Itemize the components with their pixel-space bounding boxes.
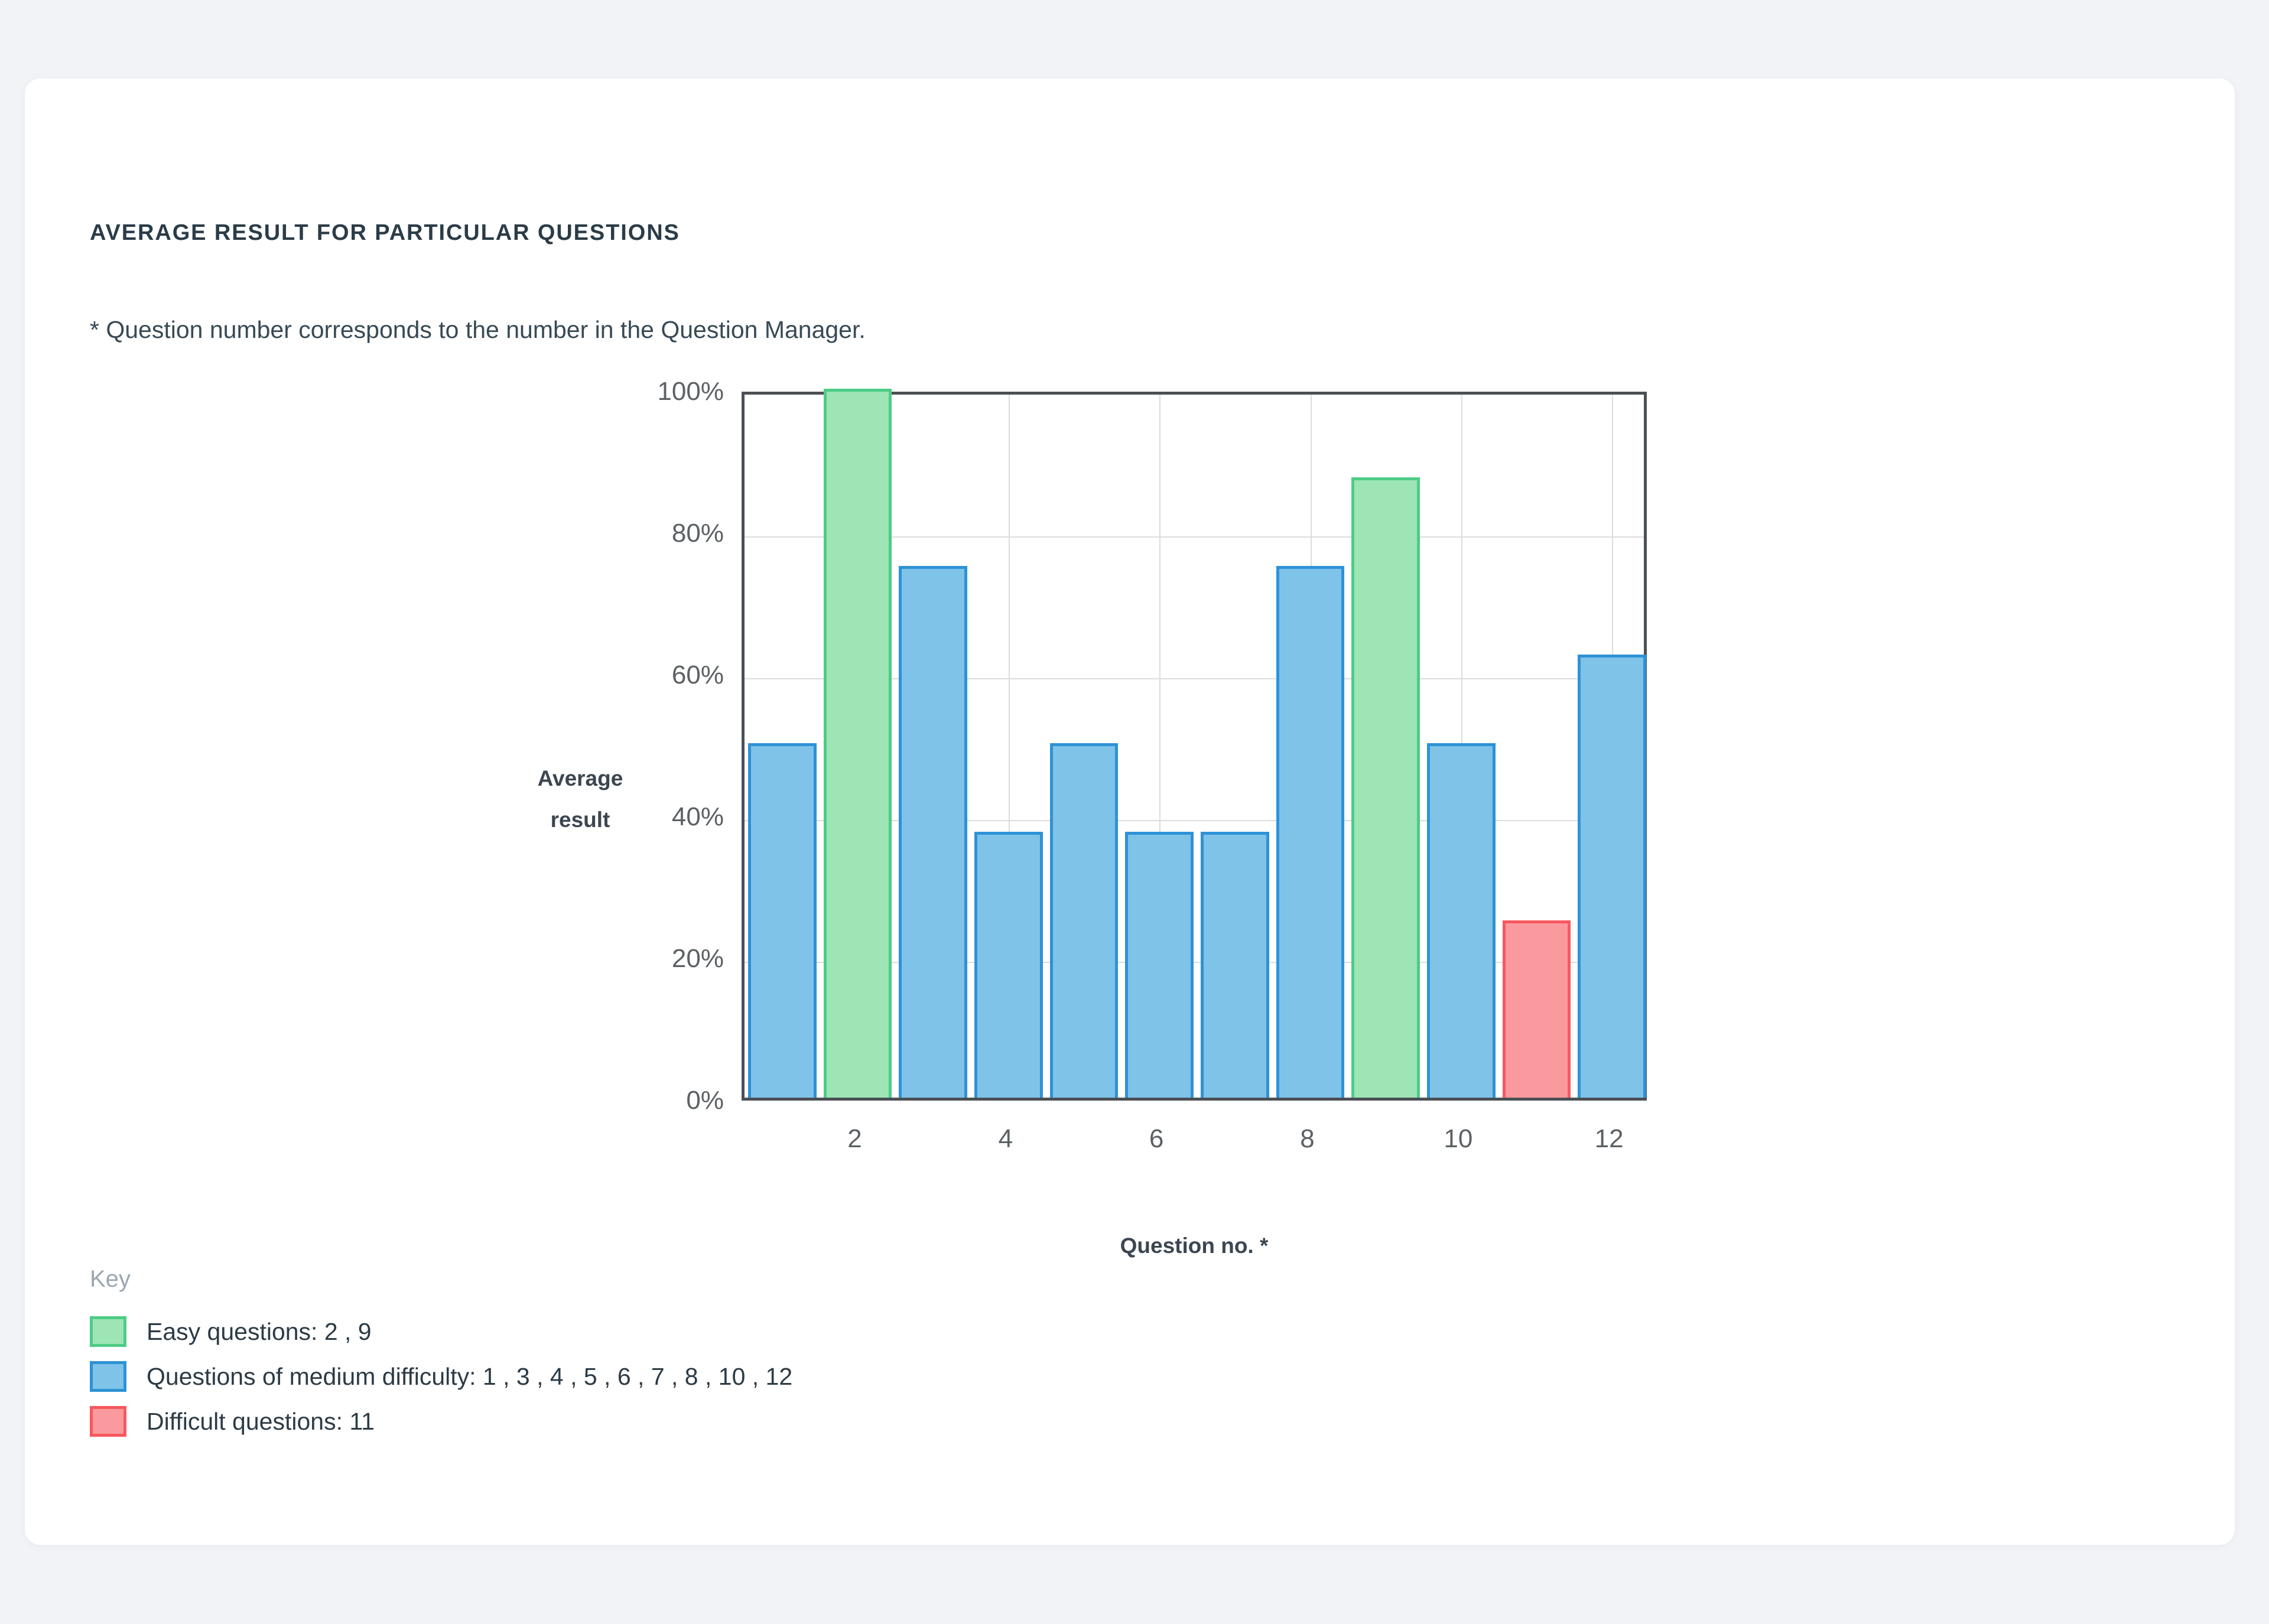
x-tick-label: 12 [1562, 1124, 1656, 1154]
bar-question-3[interactable] [899, 566, 967, 1098]
bar-series [745, 395, 1644, 1098]
legend-label: Difficult questions: 11 [147, 1408, 375, 1436]
legend-item[interactable]: Questions of medium difficulty: 1 , 3 , … [90, 1354, 792, 1399]
bar-question-2[interactable] [824, 389, 892, 1098]
y-tick-label: 60% [594, 660, 724, 690]
x-tick-label: 6 [1109, 1124, 1204, 1154]
legend-item[interactable]: Easy questions: 2 , 9 [90, 1309, 792, 1354]
y-axis-title: Average result [492, 758, 669, 841]
legend-rows: Easy questions: 2 , 9Questions of medium… [90, 1309, 792, 1444]
bar-question-9[interactable] [1351, 477, 1420, 1098]
legend-heading: Key [90, 1266, 792, 1293]
x-tick-label: 4 [958, 1124, 1053, 1154]
x-axis-title: Question no. * [742, 1234, 1647, 1258]
chart-card: AVERAGE RESULT FOR PARTICULAR QUESTIONS … [25, 79, 2235, 1545]
bar-question-12[interactable] [1578, 655, 1646, 1098]
bar-question-10[interactable] [1427, 743, 1496, 1098]
legend-swatch [90, 1316, 126, 1347]
bar-question-11[interactable] [1503, 920, 1571, 1098]
bar-question-8[interactable] [1276, 566, 1345, 1098]
y-tick-label: 0% [594, 1086, 724, 1115]
bar-question-1[interactable] [748, 743, 817, 1098]
bar-question-6[interactable] [1125, 832, 1194, 1098]
y-tick-label: 80% [594, 519, 724, 548]
chart-legend: Key Easy questions: 2 , 9Questions of me… [90, 1266, 792, 1444]
legend-swatch [90, 1361, 126, 1392]
y-axis-title-line-2: result [492, 799, 669, 841]
bar-question-7[interactable] [1201, 832, 1269, 1098]
y-tick-label: 100% [594, 377, 724, 406]
x-tick-label: 8 [1260, 1124, 1355, 1154]
x-tick-label: 10 [1411, 1124, 1506, 1154]
legend-label: Questions of medium difficulty: 1 , 3 , … [147, 1363, 792, 1391]
legend-item[interactable]: Difficult questions: 11 [90, 1399, 792, 1444]
y-tick-label: 20% [594, 944, 724, 974]
legend-label: Easy questions: 2 , 9 [147, 1318, 372, 1346]
legend-swatch [90, 1406, 126, 1437]
bar-question-4[interactable] [974, 832, 1043, 1098]
plot-area [742, 392, 1647, 1101]
bar-question-5[interactable] [1050, 743, 1119, 1098]
x-tick-label: 2 [808, 1124, 902, 1154]
y-axis-title-line-1: Average [492, 758, 669, 799]
